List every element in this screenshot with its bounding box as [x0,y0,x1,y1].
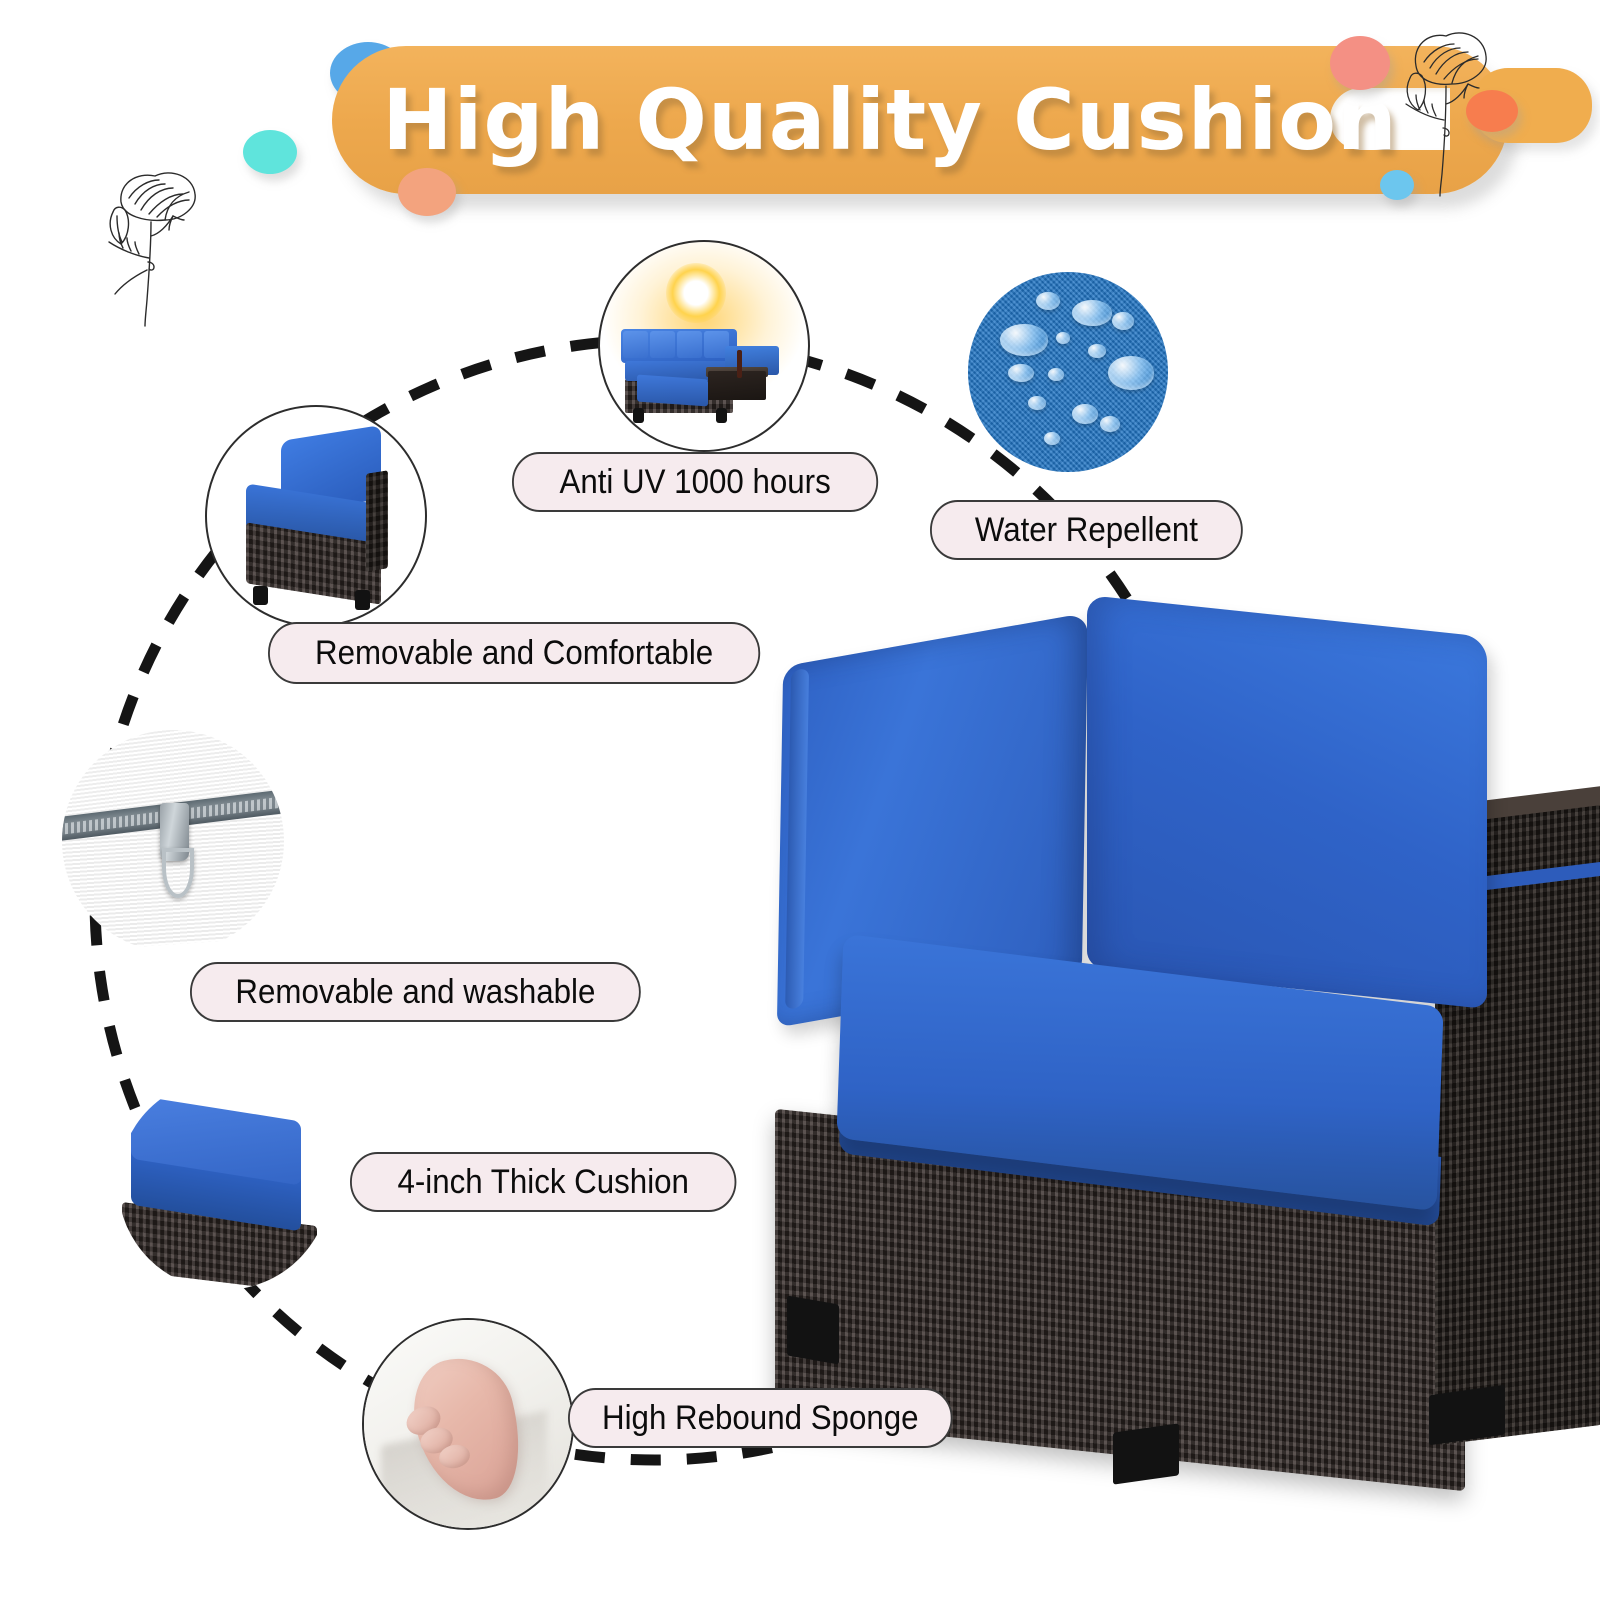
thumb-high-rebound-sponge [362,1318,574,1530]
thumb-removable-washable [62,730,284,952]
water-drop [1072,300,1112,326]
water-drop [1048,368,1064,381]
uv-ottoman [637,375,708,407]
dot-cyan-left [243,130,297,174]
uv-cushion-1 [623,331,648,358]
poppy-flower-sketch-left [85,150,245,330]
water-drop [1100,416,1120,432]
water-drop [1112,312,1134,330]
label-text: Water Repellent [975,511,1198,550]
main-product-image [735,600,1600,1480]
thumb-water-repellent [968,272,1168,472]
mini-armrest [366,471,388,573]
water-drop [1008,364,1034,382]
sofa-foot-front [1113,1423,1179,1484]
uv-bottle [737,350,742,378]
dot-salmon-left [398,168,456,216]
sun-icon [666,263,726,323]
back-cushion-right [1087,595,1487,1009]
label-text: Removable and washable [235,973,595,1012]
water-drop [1088,344,1106,358]
label-text: Anti UV 1000 hours [559,463,830,502]
water-drop [1028,396,1046,410]
thumb-removable-comfortable [205,405,427,627]
sofa-foot-left [787,1295,839,1364]
label-removable-washable: Removable and washable [190,962,641,1022]
label-text: High Rebound Sponge [602,1399,919,1438]
label-thick-cushion: 4-inch Thick Cushion [350,1152,736,1212]
dot-pink-right [1330,36,1390,90]
water-drop [1036,292,1060,310]
water-drop [1108,356,1154,390]
thumb-anti-uv [598,240,810,452]
uv-cushion-2 [650,331,675,358]
label-removable-comfortable: Removable and Comfortable [268,622,760,684]
water-drop [1000,324,1048,356]
water-drop [1044,432,1060,445]
uv-cushion-3 [677,331,702,358]
label-text: 4-inch Thick Cushion [397,1163,689,1202]
infographic-canvas: High Quality Cushion [0,0,1600,1600]
water-drop [1072,404,1098,424]
label-water-repellent: Water Repellent [930,500,1243,560]
thumb-thick-cushion [118,1078,330,1290]
water-drop [1056,332,1070,344]
label-text: Removable and Comfortable [315,634,713,673]
label-high-rebound-sponge: High Rebound Sponge [568,1388,953,1448]
poppy-flower-sketch-right [1392,22,1522,197]
sofa-foot-right [1429,1385,1505,1446]
label-anti-uv: Anti UV 1000 hours [512,452,878,512]
